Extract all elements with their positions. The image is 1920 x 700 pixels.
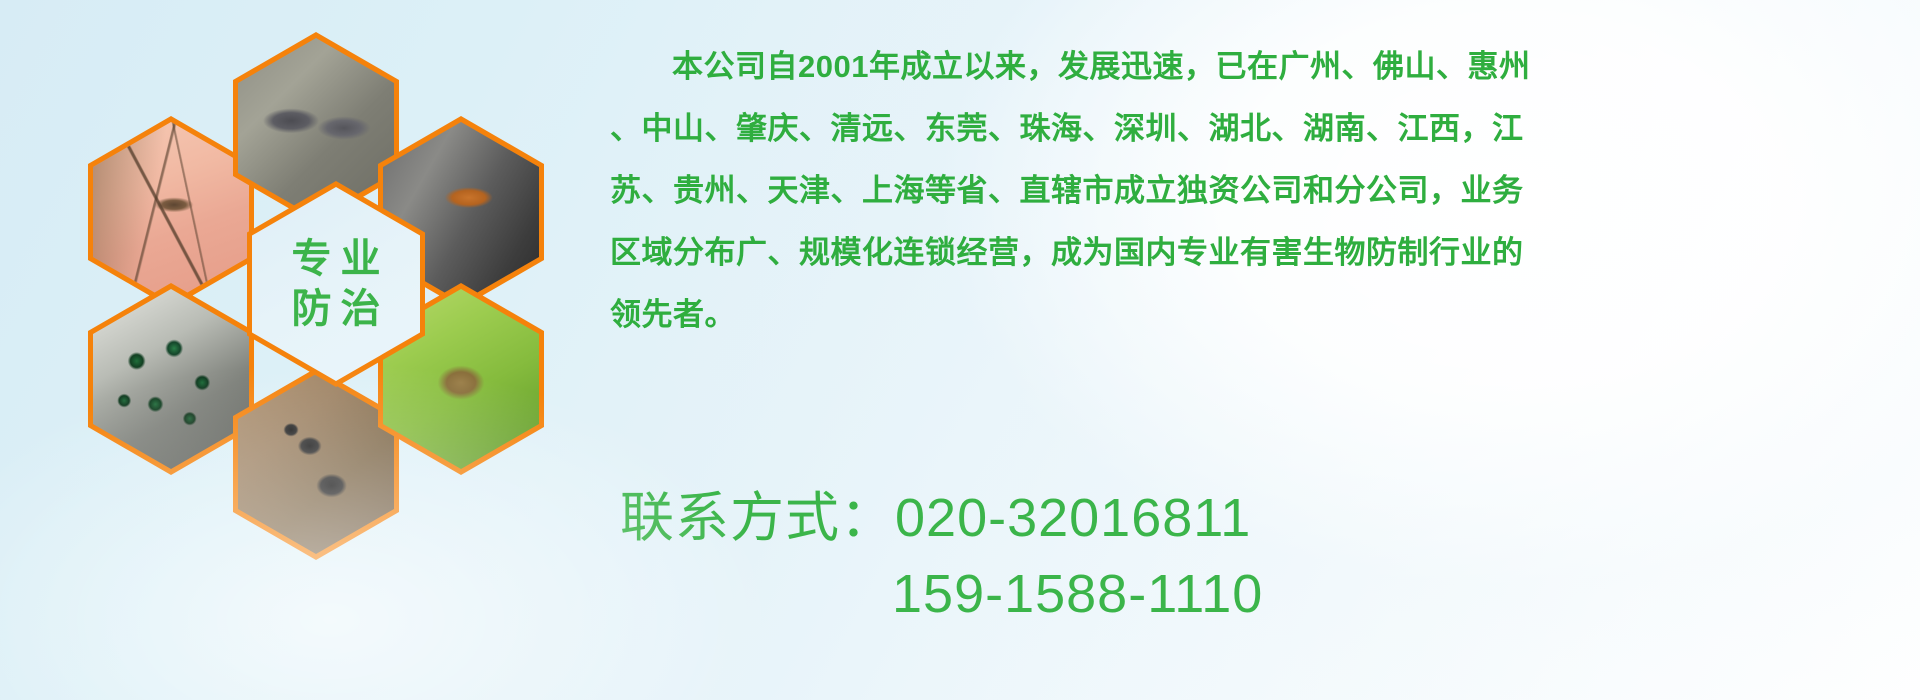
mosquito-photo: [93, 122, 249, 302]
intro-line: 本公司自2001年成立以来，发展迅速，已在广州、佛山、惠州: [610, 36, 1350, 98]
contact-phone-primary[interactable]: 联系方式：020-32016811: [620, 480, 1420, 556]
hex-inner: [238, 374, 394, 554]
intro-line: 、中山、肇庆、清远、东莞、珠海、深圳、湖北、湖南、江西，江: [610, 98, 1350, 160]
hex-inner: [93, 122, 249, 302]
ant-photo: [238, 374, 394, 554]
hex-inner: 专业 防治: [252, 187, 420, 381]
rats-photo: [238, 38, 394, 218]
company-intro-paragraph: 本公司自2001年成立以来，发展迅速，已在广州、佛山、惠州 、中山、肇庆、清远、…: [610, 36, 1350, 346]
contact-block: 联系方式：020-32016811 159-1588-1110: [620, 480, 1420, 632]
slogan-line-1: 专业: [283, 238, 390, 280]
intro-line: 苏、贵州、天津、上海等省、直辖市成立独资公司和分公司，业务: [610, 160, 1350, 222]
hex-inner: [238, 38, 394, 218]
promo-banner: 专业 防治 本公司自2001年成立以来，发展迅速，已在广州、佛山、惠州 、中山、…: [0, 0, 1920, 700]
contact-phone-secondary[interactable]: 159-1588-1110: [620, 556, 1420, 632]
hex-cell-flies[interactable]: [88, 283, 254, 475]
hex-inner: [93, 289, 249, 469]
hex-cell-mosquito[interactable]: [88, 116, 254, 308]
intro-line: 区域分布广、规模化连锁经营，成为国内专业有害生物防制行业的: [610, 222, 1350, 284]
hexagon-photo-cluster: 专业 防治: [88, 8, 588, 568]
hex-cell-ant[interactable]: [233, 368, 399, 560]
intro-line: 领先者。: [610, 284, 1350, 346]
slogan-line-2: 防治: [283, 288, 390, 330]
flies-photo: [93, 289, 249, 469]
